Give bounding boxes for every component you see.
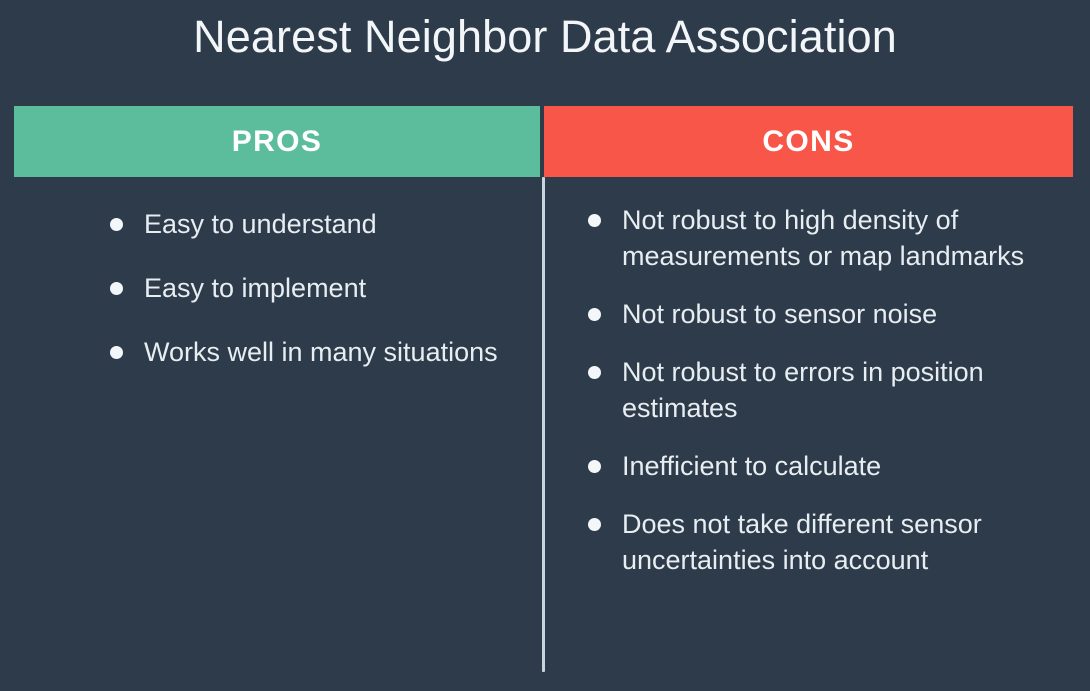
list-item-label: Not robust to errors in position estimat… [622,354,1080,426]
cons-bullet-list: Not robust to high density of measuremen… [560,202,1080,578]
list-item: Does not take different sensor uncertain… [560,506,1080,578]
list-item: Works well in many situations [14,334,530,370]
bullet-dot-icon [588,460,601,473]
bullet-dot-icon [588,214,601,227]
cons-header-bar: CONS [544,106,1073,177]
bullet-dot-icon [110,282,123,295]
pros-bullet-list: Easy to understandEasy to implementWorks… [14,206,530,370]
page-title: Nearest Neighbor Data Association [0,6,1090,68]
bullet-dot-icon [588,366,601,379]
pros-header-label: PROS [232,125,323,159]
column-divider [542,177,545,672]
bullet-dot-icon [110,346,123,359]
list-item-label: Not robust to high density of measuremen… [622,202,1080,274]
pros-header-bar: PROS [14,106,540,177]
bullet-dot-icon [588,518,601,531]
bullet-dot-icon [588,308,601,321]
list-item: Inefficient to calculate [560,448,1080,484]
bullet-dot-icon [110,218,123,231]
list-item: Easy to implement [14,270,530,306]
list-item: Easy to understand [14,206,530,242]
list-item: Not robust to errors in position estimat… [560,354,1080,426]
list-item: Not robust to high density of measuremen… [560,202,1080,274]
cons-header-label: CONS [762,125,854,159]
list-item-label: Inefficient to calculate [622,448,1080,484]
list-item: Not robust to sensor noise [560,296,1080,332]
list-item-label: Works well in many situations [144,334,530,370]
list-item-label: Does not take different sensor uncertain… [622,506,1080,578]
pros-column: Easy to understandEasy to implementWorks… [14,206,530,370]
list-item-label: Not robust to sensor noise [622,296,1080,332]
list-item-label: Easy to implement [144,270,530,306]
list-item-label: Easy to understand [144,206,530,242]
cons-column: Not robust to high density of measuremen… [560,202,1080,578]
